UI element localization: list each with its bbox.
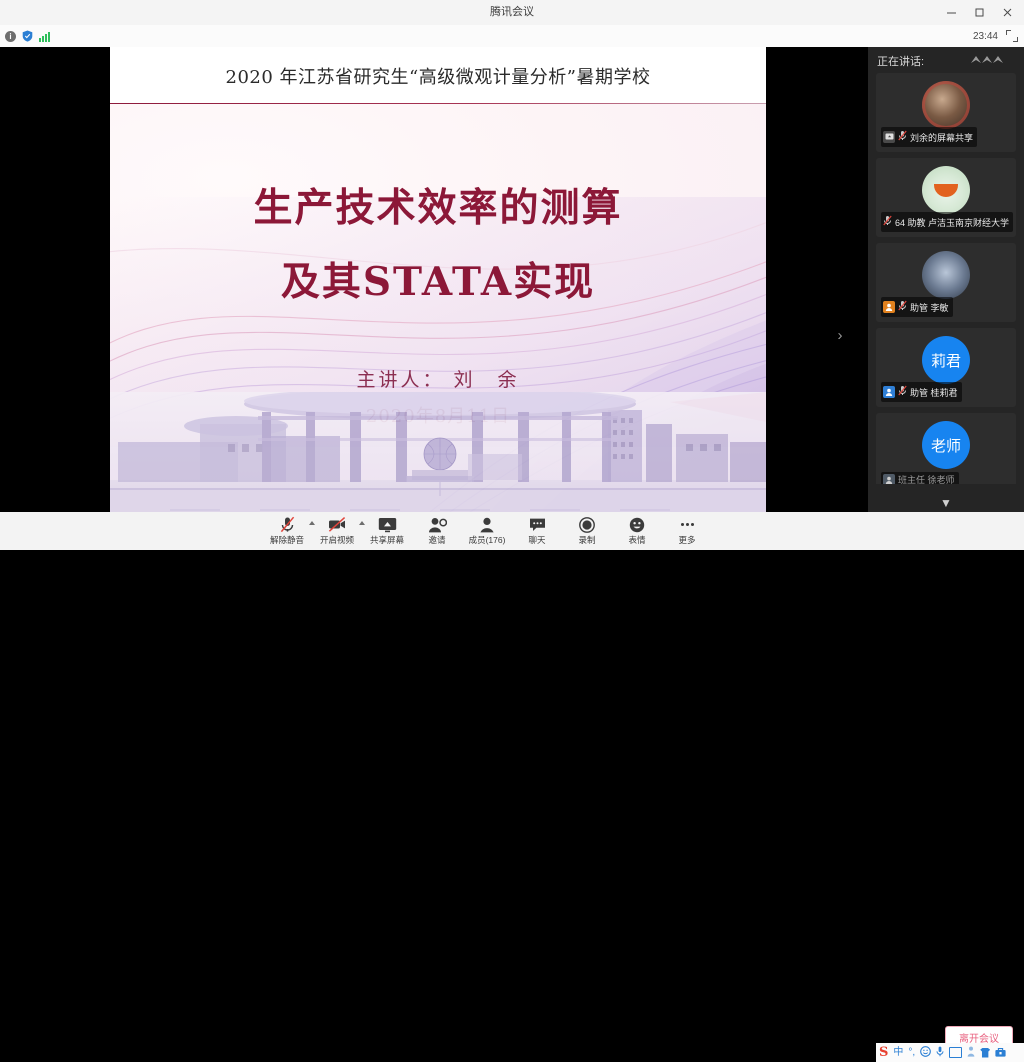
fullscreen-icon[interactable] [1006,30,1018,42]
participant-name: 助管 桂莉君 [910,386,958,399]
tencent-meeting-window: 腾讯会议 i 23:44 [0,0,1024,550]
slide-title-line2: 及其STATA实现 [110,251,766,307]
participant-tile[interactable]: 64 助教 卢洁玉南京财经大学 [876,158,1016,237]
participant-tile[interactable]: 老师 班主任 徐老师 [876,413,1016,484]
toolbar-invite-button[interactable]: 邀请 [412,512,462,550]
participant-tile[interactable]: 莉君 助管 桂莉君 [876,328,1016,407]
participant-meta: 助管 桂莉君 [881,382,962,402]
participant-meta: 班主任 徐老师 [881,472,959,484]
participant-list[interactable]: 刘余的屏幕共享 64 助教 卢洁玉南京财经大学 [868,73,1024,484]
title-bar: 腾讯会议 [0,0,1024,26]
slide-presenter: 主讲人： 刘 余 [110,365,766,392]
toolbar-label: 聊天 [528,534,545,546]
ime-mic-icon[interactable] [936,1044,944,1062]
toolbar-label: 成员(176) [469,534,506,546]
avatar [922,166,970,214]
ime-emoji-icon[interactable] [920,1044,931,1062]
meeting-status-icons: i [5,25,50,47]
toolbar-emoji-button[interactable]: 表情 [612,512,662,550]
shield-icon[interactable] [22,30,33,42]
toolbar-label: 开启视频 [320,534,354,546]
toolbar-label: 更多 [678,534,695,546]
mic-muted-icon [883,213,892,231]
minimize-button[interactable] [938,2,964,24]
screen-share-icon [378,516,397,533]
toolbar-label: 共享屏幕 [370,534,404,546]
toolbar-label: 录制 [578,534,595,546]
speaking-indicator: 正在讲话: [868,47,1024,73]
assistant-badge-icon [883,386,895,398]
avatar-graphic [934,184,958,197]
mic-muted-icon [898,128,907,146]
participant-tile[interactable]: 刘余的屏幕共享 [876,73,1016,152]
ime-toolbar[interactable]: S 中 °, [876,1043,1024,1062]
collapse-panel-chevron-right-icon[interactable]: › [833,322,847,348]
avatar: 老师 [922,421,970,469]
ime-keyboard-icon[interactable] [949,1047,962,1058]
participant-tile[interactable]: 助管 李敏 [876,243,1016,322]
presentation-slide: 2020 年江苏省研究生“高级微观计量分析”暑期学校 [110,47,766,512]
record-icon [579,516,595,533]
participant-name: 班主任 徐老师 [898,473,955,484]
meeting-info-bar: i 23:44 [0,25,1024,48]
shared-screen-stage[interactable]: 2020 年江苏省研究生“高级微观计量分析”暑期学校 [0,47,868,512]
speaking-label: 正在讲话: [877,53,924,69]
slide-header: 2020 年江苏省研究生“高级微观计量分析”暑期学校 [110,47,766,104]
participant-meta: 刘余的屏幕共享 [881,127,977,147]
participant-meta: 助管 李敏 [881,297,953,317]
campus-gate-image [110,392,766,512]
sogou-logo-icon[interactable]: S [879,1046,888,1059]
close-button[interactable] [994,2,1020,24]
toolbar-more-button[interactable]: 更多 [662,512,712,550]
members-icon [479,516,495,533]
teacher-badge-icon [883,474,895,485]
ime-person-icon[interactable] [967,1044,975,1062]
window-title: 腾讯会议 [0,0,1024,25]
participant-meta: 64 助教 卢洁玉南京财经大学 [881,212,1013,232]
signal-bars-icon[interactable] [39,31,50,42]
participant-name: 64 助教 卢洁玉南京财经大学 [895,216,1009,229]
toolbar-start-video-button[interactable]: 开启视频 [312,512,362,550]
info-icon[interactable]: i [5,31,16,42]
participants-panel: 正在讲话: 刘余的屏幕共享 [868,47,1024,512]
emoji-icon [629,516,645,533]
window-controls [938,0,1020,25]
toolbar-label: 解除静音 [270,534,304,546]
ime-punctuation-icon[interactable]: °, [908,1048,915,1058]
meeting-bar-right: 23:44 [973,25,1018,47]
mic-muted-icon [280,516,295,533]
camera-off-icon [328,516,346,533]
toolbar-label: 邀请 [428,534,445,546]
meeting-toolbar: 解除静音 开启视频 共享屏幕 邀请 [0,512,1024,550]
toolbar-label: 表情 [628,534,645,546]
toolbar-chat-button[interactable]: 聊天 [512,512,562,550]
ime-mode-label[interactable]: 中 [893,1048,903,1058]
maximize-button[interactable] [966,2,992,24]
ime-skin-icon[interactable] [980,1048,990,1058]
slide-title-line1: 生产技术效率的测算 [110,177,766,233]
mic-muted-icon [898,298,907,316]
participant-name: 刘余的屏幕共享 [910,131,973,144]
scroll-down-chevron-icon[interactable]: ▼ [868,496,1024,510]
screen-share-icon [883,131,895,143]
speaking-wave-icon [970,54,1004,67]
mic-muted-icon [898,383,907,401]
avatar: 莉君 [922,336,970,384]
avatar [922,81,970,129]
slide-header-text: 2020 年江苏省研究生“高级微观计量分析”暑期学校 [110,47,766,104]
ime-toolbox-icon[interactable] [995,1044,1006,1062]
toolbar-record-button[interactable]: 录制 [562,512,612,550]
avatar [922,251,970,299]
chat-icon [529,516,546,533]
invite-icon [428,516,447,533]
meeting-clock: 23:44 [973,31,998,42]
toolbar-members-button[interactable]: 成员(176) [462,512,512,550]
participant-name: 助管 李敏 [910,301,949,314]
toolbar-share-screen-button[interactable]: 共享屏幕 [362,512,412,550]
toolbar-items: 解除静音 开启视频 共享屏幕 邀请 [262,512,712,550]
more-icon [681,516,694,533]
host-badge-icon [883,301,895,313]
toolbar-unmute-button[interactable]: 解除静音 [262,512,312,550]
